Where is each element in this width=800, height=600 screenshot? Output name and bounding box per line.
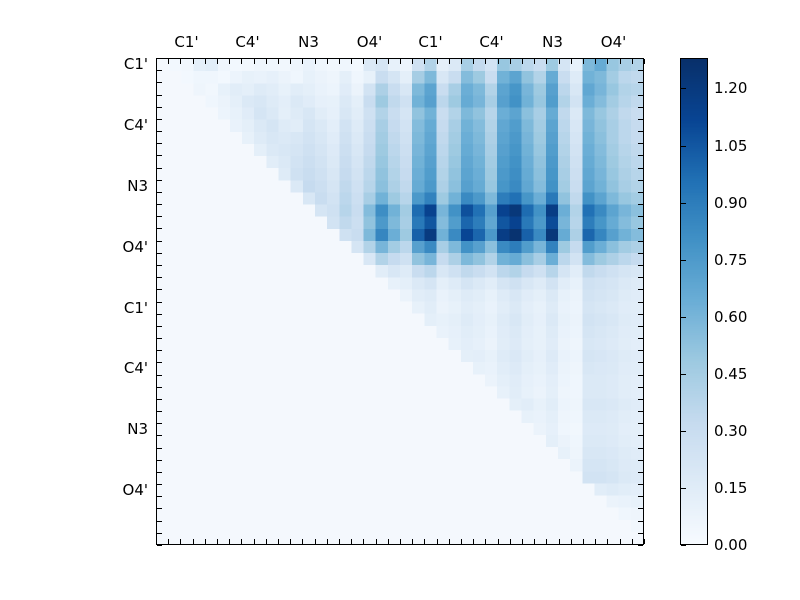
y-tick-right: [638, 253, 643, 254]
x-tick-bottom: [485, 539, 486, 544]
colorbar-tick-label: 0.90: [714, 194, 747, 212]
x-tick-bottom: [180, 539, 181, 544]
x-tick-top: [351, 59, 352, 64]
y-tick-left: [157, 131, 162, 132]
colorbar-tick-label: 0.60: [714, 308, 747, 326]
x-tick-bottom: [290, 539, 291, 544]
x-tick-top: [388, 59, 389, 64]
y-tick-left: [157, 216, 162, 217]
y-tick-right: [638, 399, 643, 400]
y-tick-left: [157, 302, 162, 303]
y-tick-right: [638, 375, 643, 376]
colorbar-tick-label: 0.30: [714, 422, 747, 440]
y-tick-left: [157, 95, 162, 96]
y-tick-right: [638, 338, 643, 339]
x-tick-top: [498, 59, 499, 64]
x-tick-top: [254, 59, 255, 64]
x-tick-label: C4': [479, 33, 503, 51]
x-tick-bottom: [156, 539, 157, 544]
y-tick-right: [638, 472, 643, 473]
y-tick-right: [638, 143, 643, 144]
y-tick-left: [157, 253, 162, 254]
y-tick-left: [157, 362, 162, 363]
x-tick-top: [461, 59, 462, 64]
x-tick-top: [595, 59, 596, 64]
y-tick-left: [157, 435, 162, 436]
y-tick-right: [638, 508, 643, 509]
y-tick-right: [638, 435, 643, 436]
x-tick-top: [156, 59, 157, 64]
y-tick-right: [638, 82, 643, 83]
y-tick-label: C1': [0, 299, 148, 317]
heatmap-image[interactable]: [157, 59, 643, 544]
x-tick-top: [546, 59, 547, 64]
x-tick-top: [290, 59, 291, 64]
y-tick-left: [157, 192, 162, 193]
x-tick-bottom: [205, 539, 206, 544]
x-tick-bottom: [302, 539, 303, 544]
y-tick-right: [638, 277, 643, 278]
x-tick-bottom: [498, 539, 499, 544]
y-tick-right: [638, 302, 643, 303]
x-tick-top: [180, 59, 181, 64]
y-tick-left: [157, 338, 162, 339]
colorbar-tick: [681, 545, 686, 546]
x-tick-bottom: [363, 539, 364, 544]
colorbar-tick: [681, 88, 686, 89]
x-tick-top: [485, 59, 486, 64]
x-tick-top: [266, 59, 267, 64]
y-tick-left: [157, 277, 162, 278]
y-tick-label: O4': [0, 481, 148, 499]
y-tick-left: [157, 533, 162, 534]
x-tick-top: [571, 59, 572, 64]
y-tick-label: N3: [0, 177, 148, 195]
y-tick-left: [157, 448, 162, 449]
x-tick-bottom: [473, 539, 474, 544]
colorbar-tick: [681, 431, 686, 432]
y-tick-left: [157, 496, 162, 497]
y-tick-left: [157, 350, 162, 351]
x-tick-top: [644, 59, 645, 64]
x-tick-bottom: [449, 539, 450, 544]
y-tick-left: [157, 411, 162, 412]
x-tick-bottom: [534, 539, 535, 544]
x-tick-bottom: [620, 539, 621, 544]
y-tick-left: [157, 375, 162, 376]
colorbar-axes[interactable]: [680, 58, 708, 545]
y-tick-left: [157, 387, 162, 388]
y-tick-left: [157, 119, 162, 120]
x-tick-bottom: [388, 539, 389, 544]
x-tick-bottom: [278, 539, 279, 544]
x-tick-top: [168, 59, 169, 64]
x-tick-bottom: [522, 539, 523, 544]
x-tick-top: [339, 59, 340, 64]
colorbar-tick-label: 0.15: [714, 479, 747, 497]
colorbar-tick-label: 0.45: [714, 365, 747, 383]
x-tick-bottom: [168, 539, 169, 544]
x-tick-bottom: [412, 539, 413, 544]
x-tick-label: N3: [298, 33, 319, 51]
colorbar-tick: [681, 203, 686, 204]
y-tick-right: [638, 131, 643, 132]
x-tick-top: [193, 59, 194, 64]
y-tick-right: [638, 204, 643, 205]
y-tick-left: [157, 180, 162, 181]
y-tick-left: [157, 508, 162, 509]
y-tick-left: [157, 58, 162, 59]
x-tick-bottom: [571, 539, 572, 544]
x-tick-top: [620, 59, 621, 64]
x-tick-bottom: [400, 539, 401, 544]
y-tick-left: [157, 423, 162, 424]
x-tick-bottom: [217, 539, 218, 544]
x-tick-label: N3: [542, 33, 563, 51]
y-tick-left: [157, 155, 162, 156]
x-tick-top: [632, 59, 633, 64]
x-tick-label: O4': [601, 33, 626, 51]
y-tick-right: [638, 496, 643, 497]
colorbar-tick-label: 0.75: [714, 251, 747, 269]
y-tick-right: [638, 228, 643, 229]
colorbar-tick-label: 1.05: [714, 137, 747, 155]
x-tick-top: [302, 59, 303, 64]
y-tick-label: O4': [0, 238, 148, 256]
x-tick-bottom: [327, 539, 328, 544]
x-tick-top: [315, 59, 316, 64]
x-tick-label: O4': [357, 33, 382, 51]
y-tick-left: [157, 484, 162, 485]
x-tick-top: [534, 59, 535, 64]
y-tick-label: C1': [0, 55, 148, 73]
y-tick-right: [638, 265, 643, 266]
y-tick-left: [157, 70, 162, 71]
colorbar-tick: [681, 488, 686, 489]
x-tick-bottom: [437, 539, 438, 544]
y-tick-left: [157, 289, 162, 290]
x-tick-top: [229, 59, 230, 64]
x-tick-top: [437, 59, 438, 64]
y-tick-right: [638, 362, 643, 363]
x-tick-bottom: [339, 539, 340, 544]
x-tick-top: [412, 59, 413, 64]
colorbar-tick-label: 0.00: [714, 536, 747, 554]
y-tick-right: [638, 533, 643, 534]
x-tick-top: [522, 59, 523, 64]
x-tick-bottom: [559, 539, 560, 544]
x-tick-top: [217, 59, 218, 64]
x-tick-top: [278, 59, 279, 64]
y-tick-right: [638, 168, 643, 169]
x-tick-bottom: [254, 539, 255, 544]
colorbar-tick: [681, 374, 686, 375]
y-tick-left: [157, 545, 162, 546]
y-tick-left: [157, 265, 162, 266]
y-tick-right: [638, 95, 643, 96]
y-tick-right: [638, 423, 643, 424]
y-tick-right: [638, 289, 643, 290]
y-tick-left: [157, 521, 162, 522]
colorbar-gradient: [681, 59, 707, 544]
y-tick-left: [157, 326, 162, 327]
y-tick-right: [638, 155, 643, 156]
y-tick-right: [638, 241, 643, 242]
heatmap-axes[interactable]: [156, 58, 644, 545]
y-tick-right: [638, 411, 643, 412]
x-tick-label: C1': [418, 33, 442, 51]
x-tick-top: [241, 59, 242, 64]
x-tick-bottom: [546, 539, 547, 544]
colorbar-tick: [681, 260, 686, 261]
x-tick-top: [583, 59, 584, 64]
y-tick-right: [638, 545, 643, 546]
x-tick-bottom: [595, 539, 596, 544]
figure-canvas: C1'C4'N3O4'C1'C4'N3O4'C1'C4'N3O4'C1'C4'N…: [0, 0, 800, 600]
y-tick-right: [638, 448, 643, 449]
x-tick-label: C4': [235, 33, 259, 51]
y-tick-left: [157, 314, 162, 315]
y-tick-left: [157, 168, 162, 169]
y-tick-left: [157, 143, 162, 144]
y-tick-left: [157, 228, 162, 229]
colorbar-tick-label: 1.20: [714, 79, 747, 97]
x-tick-bottom: [315, 539, 316, 544]
y-tick-left: [157, 460, 162, 461]
y-tick-right: [638, 521, 643, 522]
x-tick-bottom: [510, 539, 511, 544]
x-tick-bottom: [644, 539, 645, 544]
x-tick-bottom: [632, 539, 633, 544]
x-tick-top: [559, 59, 560, 64]
x-tick-top: [473, 59, 474, 64]
x-tick-top: [510, 59, 511, 64]
y-tick-label: N3: [0, 420, 148, 438]
colorbar-tick: [681, 146, 686, 147]
x-tick-top: [205, 59, 206, 64]
x-tick-top: [400, 59, 401, 64]
x-tick-bottom: [376, 539, 377, 544]
x-tick-top: [327, 59, 328, 64]
x-tick-bottom: [193, 539, 194, 544]
x-tick-bottom: [241, 539, 242, 544]
y-tick-label: C4': [0, 116, 148, 134]
x-tick-bottom: [583, 539, 584, 544]
y-tick-right: [638, 460, 643, 461]
x-tick-bottom: [607, 539, 608, 544]
x-tick-top: [376, 59, 377, 64]
y-tick-right: [638, 326, 643, 327]
x-tick-top: [607, 59, 608, 64]
y-tick-left: [157, 472, 162, 473]
y-tick-left: [157, 399, 162, 400]
x-tick-bottom: [229, 539, 230, 544]
colorbar-tick: [681, 317, 686, 318]
y-tick-left: [157, 107, 162, 108]
x-tick-label: C1': [174, 33, 198, 51]
y-tick-left: [157, 82, 162, 83]
y-tick-left: [157, 241, 162, 242]
y-tick-label: C4': [0, 359, 148, 377]
y-tick-left: [157, 204, 162, 205]
y-tick-right: [638, 484, 643, 485]
y-tick-right: [638, 387, 643, 388]
y-tick-right: [638, 70, 643, 71]
x-tick-bottom: [351, 539, 352, 544]
x-tick-bottom: [424, 539, 425, 544]
x-tick-top: [424, 59, 425, 64]
x-tick-top: [449, 59, 450, 64]
y-tick-right: [638, 216, 643, 217]
x-tick-bottom: [461, 539, 462, 544]
y-tick-right: [638, 119, 643, 120]
y-tick-right: [638, 192, 643, 193]
y-tick-right: [638, 58, 643, 59]
y-tick-right: [638, 314, 643, 315]
x-tick-bottom: [266, 539, 267, 544]
x-tick-top: [363, 59, 364, 64]
y-tick-right: [638, 350, 643, 351]
y-tick-right: [638, 180, 643, 181]
y-tick-right: [638, 107, 643, 108]
